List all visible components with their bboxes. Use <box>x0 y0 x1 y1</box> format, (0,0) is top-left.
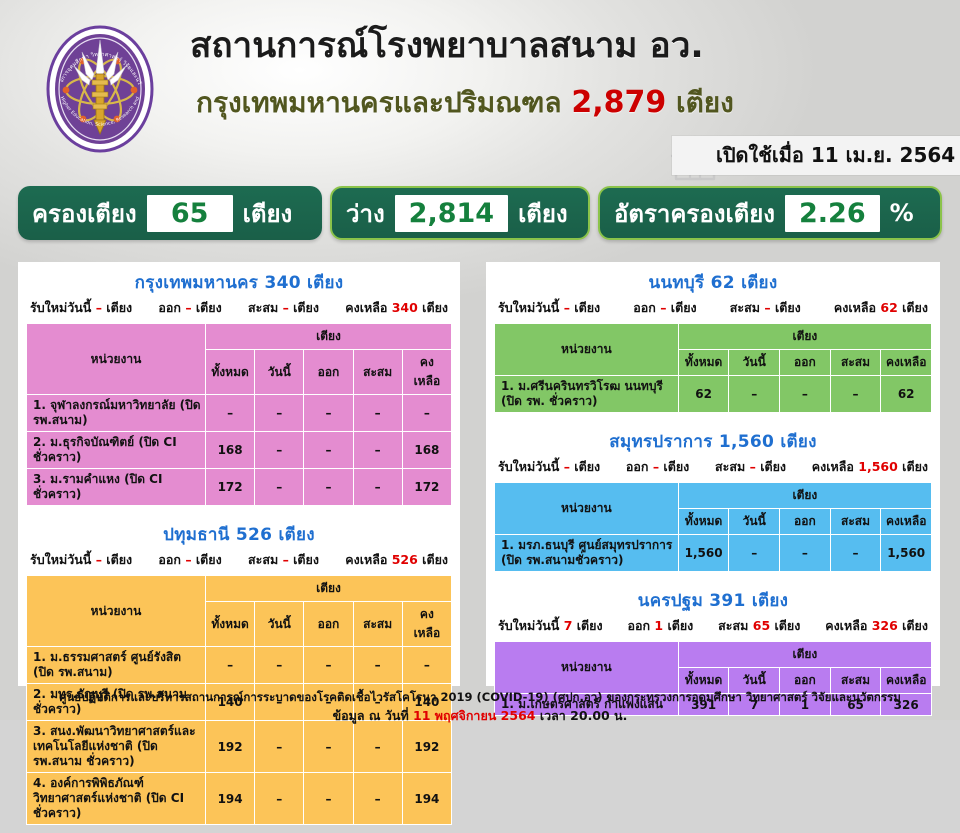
col-header-0: ทั้งหมด <box>678 509 729 535</box>
cell-left: 62 <box>881 376 932 413</box>
cell-out: – <box>304 469 353 506</box>
table-row: 1. จุฬาลงกรณ์มหาวิทยาลัย (ปิด รพ.สนาม)––… <box>27 395 452 432</box>
footer-line-1: ศูนย์ปฏิบัติการและบริหารสถานการณ์การระบา… <box>0 688 960 706</box>
cell-left: 168 <box>402 432 451 469</box>
cell-today: – <box>729 535 780 572</box>
col-header-0: ทั้งหมด <box>206 350 255 395</box>
col-header-0: ทั้งหมด <box>206 602 255 647</box>
summary-discharge-pathumthani: ออก – เตียง <box>158 550 221 570</box>
cell-today: – <box>255 647 304 684</box>
region-title-bangkok: กรุงเทพมหานคร 340 เตียง <box>26 266 452 298</box>
region-summary-samutprakan: รับใหม่วันนี้ – เตียงออก – เตียงสะสม – เ… <box>494 457 932 482</box>
cell-cum: – <box>830 535 881 572</box>
cell-cum: – <box>353 432 402 469</box>
cell-unit-name: 1. ม.ธรรมศาสตร์ ศูนย์รังสิต (ปิด รพ.สนาม… <box>27 647 206 684</box>
summary-new-today-nakhonpathom: รับใหม่วันนี้ 7 เตียง <box>498 616 603 636</box>
cell-cum: – <box>353 773 402 825</box>
cell-out: – <box>304 647 353 684</box>
table-row: 1. มรภ.ธนบุรี ศูนย์สมุทรปราการ (ปิด รพ.ส… <box>495 535 932 572</box>
cell-out: – <box>304 395 353 432</box>
table-row: 2. ม.ธุรกิจบัณฑิตย์ (ปิด CI ชั่วคราว)168… <box>27 432 452 469</box>
summary-cumulative-nakhonpathom: สะสม 65 เตียง <box>718 616 800 636</box>
cell-today: – <box>255 721 304 773</box>
col-header-beds-group: เตียง <box>678 483 931 509</box>
summary-cumulative-bangkok: สะสม – เตียง <box>248 298 319 318</box>
col-header-4: คงเหลือ <box>881 350 932 376</box>
region-summary-nakhonpathom: รับใหม่วันนี้ 7 เตียงออก 1 เตียงสะสม 65 … <box>494 616 932 641</box>
table-header-row: หน่วยงานเตียง <box>495 483 932 509</box>
subtitle-total-beds: 2,879 <box>571 85 666 120</box>
cell-out: – <box>304 432 353 469</box>
table-header-row: หน่วยงานเตียง <box>495 324 932 350</box>
summary-discharge-nonthaburi: ออก – เตียง <box>633 298 696 318</box>
cell-total: 172 <box>206 469 255 506</box>
cell-unit-name: 4. องค์การพิพิธภัณฑ์วิทยาศาสตร์แห่งชาติ … <box>27 773 206 825</box>
summary-new-today-bangkok: รับใหม่วันนี้ – เตียง <box>30 298 132 318</box>
col-header-1: วันนี้ <box>255 350 304 395</box>
summary-cumulative-samutprakan: สะสม – เตียง <box>715 457 786 477</box>
table-header-row: หน่วยงานเตียง <box>27 324 452 350</box>
cell-left: 192 <box>402 721 451 773</box>
cell-today: – <box>255 773 304 825</box>
summary-cumulative-pathumthani: สะสม – เตียง <box>248 550 319 570</box>
cell-unit-name: 1. มรภ.ธนบุรี ศูนย์สมุทรปราการ (ปิด รพ.ส… <box>495 535 679 572</box>
cell-total: 62 <box>678 376 729 413</box>
cell-total: – <box>206 395 255 432</box>
stat-label-rate: อัตราครองเตียง <box>614 194 775 233</box>
summary-remaining-samutprakan: คงเหลือ 1,560 เตียง <box>812 457 928 477</box>
region-summary-nonthaburi: รับใหม่วันนี้ – เตียงออก – เตียงสะสม – เ… <box>494 298 932 323</box>
right-panel: นนทบุรี 62 เตียงรับใหม่วันนี้ – เตียงออก… <box>486 262 940 686</box>
stat-value-vacant: 2,814 <box>395 195 508 232</box>
cell-left: 1,560 <box>881 535 932 572</box>
col-header-beds-group: เตียง <box>206 324 452 350</box>
table-row: 1. ม.ธรรมศาสตร์ ศูนย์รังสิต (ปิด รพ.สนาม… <box>27 647 452 684</box>
region-title-pathumthani: ปทุมธานี 526 เตียง <box>26 518 452 550</box>
cell-unit-name: 3. ม.รามคำแหง (ปิด CI ชั่วคราว) <box>27 469 206 506</box>
col-header-4: คงเหลือ <box>402 602 451 647</box>
col-header-1: วันนี้ <box>255 602 304 647</box>
cell-today: – <box>255 469 304 506</box>
col-header-0: ทั้งหมด <box>678 350 729 376</box>
region-summary-bangkok: รับใหม่วันนี้ – เตียงออก – เตียงสะสม – เ… <box>26 298 452 323</box>
stat-card-occupancy-rate[interactable]: อัตราครองเตียง 2.26 % <box>598 186 942 240</box>
summary-new-today-samutprakan: รับใหม่วันนี้ – เตียง <box>498 457 600 477</box>
cell-cum: – <box>353 647 402 684</box>
page-title: สถานการณ์โรงพยาบาลสนาม อว. <box>190 26 890 66</box>
stat-label-occupied: ครองเตียง <box>32 194 137 233</box>
summary-discharge-nakhonpathom: ออก 1 เตียง <box>627 616 693 636</box>
cell-cum: – <box>830 376 881 413</box>
cell-out: – <box>304 721 353 773</box>
col-header-4: คงเหลือ <box>402 350 451 395</box>
table-row: 3. สนง.พัฒนาวิทยาศาสตร์และเทคโนโลยีแห่งช… <box>27 721 452 773</box>
col-header-unit: หน่วยงาน <box>27 576 206 647</box>
stat-value-occupied: 65 <box>147 195 233 232</box>
region-block-nonthaburi: นนทบุรี 62 เตียงรับใหม่วันนี้ – เตียงออก… <box>486 262 940 421</box>
col-header-3: สะสม <box>830 350 881 376</box>
col-header-3: สะสม <box>830 509 881 535</box>
cell-today: – <box>255 432 304 469</box>
beds-table-nonthaburi: หน่วยงานเตียงทั้งหมดวันนี้ออกสะสมคงเหลือ… <box>494 323 932 413</box>
cell-unit-name: 1. ม.ศรีนครินทรวิโรฒ นนทบุรี (ปิด รพ. ชั… <box>495 376 679 413</box>
stat-card-vacant[interactable]: ว่าง 2,814 เตียง <box>330 186 590 240</box>
stat-unit-rate: % <box>890 199 914 227</box>
left-panel: กรุงเทพมหานคร 340 เตียงรับใหม่วันนี้ – เ… <box>18 262 460 686</box>
cell-cum: – <box>353 469 402 506</box>
cell-total: – <box>206 647 255 684</box>
summary-remaining-nakhonpathom: คงเหลือ 326 เตียง <box>825 616 928 636</box>
summary-cumulative-nonthaburi: สะสม – เตียง <box>730 298 801 318</box>
cell-unit-name: 3. สนง.พัฒนาวิทยาศาสตร์และเทคโนโลยีแห่งช… <box>27 721 206 773</box>
table-row: 4. องค์การพิพิธภัณฑ์วิทยาศาสตร์แห่งชาติ … <box>27 773 452 825</box>
summary-discharge-samutprakan: ออก – เตียง <box>626 457 689 477</box>
col-header-beds-group: เตียง <box>678 324 931 350</box>
col-header-unit: หน่วยงาน <box>495 324 679 376</box>
cell-unit-name: 2. ม.ธุรกิจบัณฑิตย์ (ปิด CI ชั่วคราว) <box>27 432 206 469</box>
summary-remaining-nonthaburi: คงเหลือ 62 เตียง <box>834 298 928 318</box>
summary-new-today-pathumthani: รับใหม่วันนี้ – เตียง <box>30 550 132 570</box>
subtitle-region: กรุงเทพมหานครและปริมณฑล <box>196 86 562 119</box>
table-row: 1. ม.ศรีนครินทรวิโรฒ นนทบุรี (ปิด รพ. ชั… <box>495 376 932 413</box>
cell-total: 168 <box>206 432 255 469</box>
stat-value-rate: 2.26 <box>785 195 880 232</box>
footer-time: 20.00 น. <box>570 708 627 723</box>
cell-cum: – <box>353 721 402 773</box>
cell-today: – <box>729 376 780 413</box>
region-title-samutprakan: สมุทรปราการ 1,560 เตียง <box>494 425 932 457</box>
cell-total: 1,560 <box>678 535 729 572</box>
cell-out: – <box>304 773 353 825</box>
table-header-row: หน่วยงานเตียง <box>27 576 452 602</box>
col-header-unit: หน่วยงาน <box>495 483 679 535</box>
cell-left: – <box>402 395 451 432</box>
subtitle-unit: เตียง <box>676 86 734 119</box>
footer-time-prefix: เวลา <box>540 708 566 723</box>
region-block-pathumthani: ปทุมธานี 526 เตียงรับใหม่วันนี้ – เตียงอ… <box>18 514 460 833</box>
page-subtitle: กรุงเทพมหานครและปริมณฑล 2,879 เตียง <box>196 86 956 121</box>
col-header-2: ออก <box>780 350 831 376</box>
cell-unit-name: 1. จุฬาลงกรณ์มหาวิทยาลัย (ปิด รพ.สนาม) <box>27 395 206 432</box>
col-header-1: วันนี้ <box>729 350 780 376</box>
cell-left: – <box>402 647 451 684</box>
footer-line-2: ข้อมูล ณ วันที่ 11 พฤศจิกายน 2564 เวลา 2… <box>0 706 960 726</box>
page-header: กระทรวงการอุดมศึกษา วิทยาศาสตร์ วิจัยและ… <box>0 0 960 180</box>
summary-discharge-bangkok: ออก – เตียง <box>158 298 221 318</box>
stat-unit-vacant: เตียง <box>518 194 568 233</box>
col-header-3: สะสม <box>353 350 402 395</box>
footer-date: 11 พฤศจิกายน 2564 <box>413 708 535 723</box>
stat-card-occupied[interactable]: ครองเตียง 65 เตียง <box>18 186 322 240</box>
col-header-4: คงเหลือ <box>881 509 932 535</box>
cell-cum: – <box>353 395 402 432</box>
col-header-1: วันนี้ <box>729 509 780 535</box>
col-header-2: ออก <box>304 602 353 647</box>
summary-remaining-pathumthani: คงเหลือ 526 เตียง <box>345 550 448 570</box>
region-title-nakhonpathom: นครปฐม 391 เตียง <box>494 584 932 616</box>
stat-unit-occupied: เตียง <box>243 194 293 233</box>
beds-table-samutprakan: หน่วยงานเตียงทั้งหมดวันนี้ออกสะสมคงเหลือ… <box>494 482 932 572</box>
footer-date-prefix: ข้อมูล ณ วันที่ <box>333 708 409 723</box>
table-row: 3. ม.รามคำแหง (ปิด CI ชั่วคราว)172–––172 <box>27 469 452 506</box>
col-header-2: ออก <box>780 509 831 535</box>
col-header-unit: หน่วยงาน <box>495 642 679 694</box>
col-header-beds-group: เตียง <box>678 642 931 668</box>
dashboard-page: กระทรวงการอุดมศึกษา วิทยาศาสตร์ วิจัยและ… <box>0 0 960 720</box>
region-block-samutprakan: สมุทรปราการ 1,560 เตียงรับใหม่วันนี้ – เ… <box>486 421 940 580</box>
col-header-3: สะสม <box>353 602 402 647</box>
cell-left: 194 <box>402 773 451 825</box>
open-date-badge: เปิดใช้เมื่อ 11 เม.ย. 2564 <box>672 136 960 175</box>
summary-remaining-bangkok: คงเหลือ 340 เตียง <box>345 298 448 318</box>
beds-table-bangkok: หน่วยงานเตียงทั้งหมดวันนี้ออกสะสมคงเหลือ… <box>26 323 452 506</box>
region-block-bangkok: กรุงเทพมหานคร 340 เตียงรับใหม่วันนี้ – เ… <box>18 262 460 514</box>
stat-label-vacant: ว่าง <box>346 194 385 233</box>
col-header-beds-group: เตียง <box>206 576 452 602</box>
region-summary-pathumthani: รับใหม่วันนี้ – เตียงออก – เตียงสะสม – เ… <box>26 550 452 575</box>
col-header-2: ออก <box>304 350 353 395</box>
region-title-nonthaburi: นนทบุรี 62 เตียง <box>494 266 932 298</box>
cell-total: 194 <box>206 773 255 825</box>
cell-out: – <box>780 535 831 572</box>
cell-left: 172 <box>402 469 451 506</box>
summary-new-today-nonthaburi: รับใหม่วันนี้ – เตียง <box>498 298 600 318</box>
ministry-logo: กระทรวงการอุดมศึกษา วิทยาศาสตร์ วิจัยและ… <box>44 22 156 156</box>
cell-today: – <box>255 395 304 432</box>
table-header-row: หน่วยงานเตียง <box>495 642 932 668</box>
cell-out: – <box>780 376 831 413</box>
page-footer: ศูนย์ปฏิบัติการและบริหารสถานการณ์การระบา… <box>0 688 960 726</box>
col-header-unit: หน่วยงาน <box>27 324 206 395</box>
stats-row: ครองเตียง 65 เตียง ว่าง 2,814 เตียง อัตร… <box>0 186 960 248</box>
cell-total: 192 <box>206 721 255 773</box>
